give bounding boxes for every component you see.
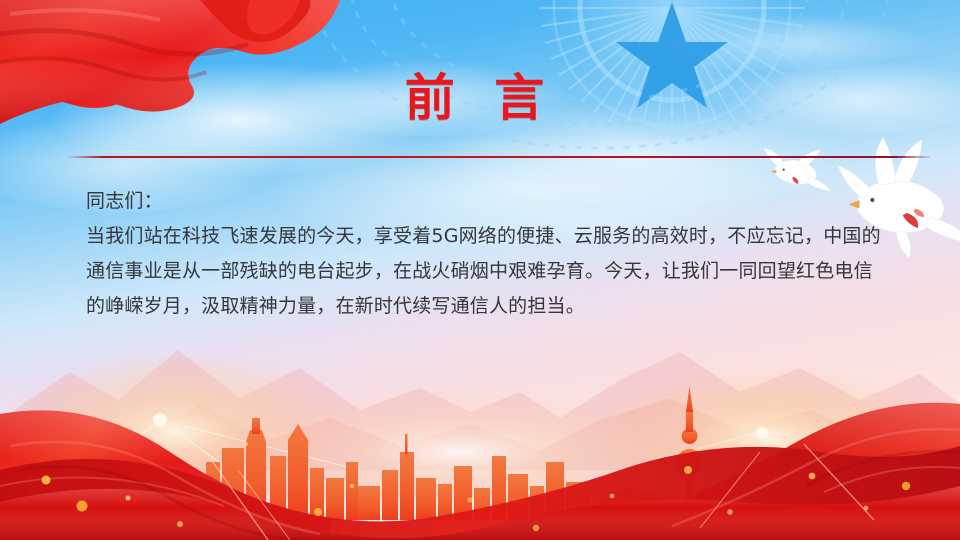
- page-title: 前 言: [0, 72, 960, 125]
- paragraph-text: 当我们站在科技飞速发展的今天，享受着5G网络的便捷、云服务的高效时，不应忘记，中…: [86, 219, 882, 324]
- presentation-slide: 前 言 同志们： 当我们站在科技飞速发展的今天，享受着5G网络的便捷、云服务的高…: [0, 0, 960, 540]
- title-divider: [68, 156, 930, 158]
- body-copy: 同志们： 当我们站在科技飞速发展的今天，享受着5G网络的便捷、云服务的高效时，不…: [86, 184, 882, 324]
- page-title-text: 前 言: [405, 72, 555, 125]
- salutation-text: 同志们：: [86, 184, 882, 219]
